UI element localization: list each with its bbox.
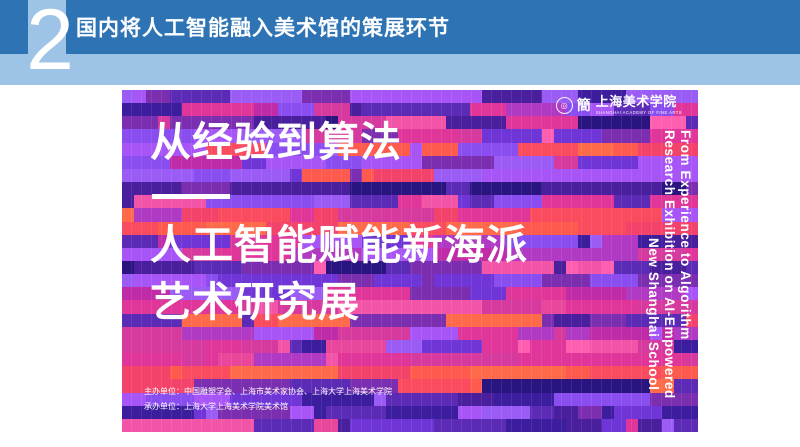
academy-name-cn: 上海美术学院 — [596, 96, 682, 109]
academy-logo: ◎ 簡 上海美术学院 SHANGHAI ACADEMY OF FINE ARTS — [556, 96, 682, 115]
slide-canvas: 2 国内将人工智能融入美术馆的策展环节 ◎ 簡 上海美术学院 SHANGHAI … — [0, 0, 800, 447]
slide-header-underband — [0, 54, 800, 85]
exhibition-poster: ◎ 簡 上海美术学院 SHANGHAI ACADEMY OF FINE ARTS… — [122, 90, 698, 432]
poster-host-line: 承办单位：上海大学上海美术学院美术馆 — [144, 402, 288, 412]
page-title: 国内将人工智能融入美术馆的策展环节 — [76, 0, 450, 54]
academy-logo-text: 上海美术学院 SHANGHAI ACADEMY OF FINE ARTS — [596, 96, 682, 115]
seal-icon: ◎ — [556, 97, 573, 114]
academy-name-en: SHANGHAI ACADEMY OF FINE ARTS — [596, 111, 682, 115]
poster-vertical-text-1: From Experience to Algorithm — [679, 130, 693, 340]
poster-vertical-text-2: Research Exhibition on AI-Empowered — [663, 130, 677, 399]
section-number: 2 — [24, 0, 76, 86]
poster-organizer-line: 主办单位：中国雕塑学会、上海市美术家协会、上海大学上海美术学院 — [144, 387, 392, 397]
poster-title-line-1: 从经验到算法 — [150, 122, 402, 163]
academy-mark-icon: 簡 — [577, 99, 591, 113]
poster-vertical-text-3: New Shanghai School — [647, 238, 661, 390]
poster-title-line-3: 艺术研究展 — [150, 282, 360, 323]
poster-title-divider — [152, 194, 230, 199]
poster-title-line-2: 人工智能赋能新海派 — [150, 225, 528, 266]
